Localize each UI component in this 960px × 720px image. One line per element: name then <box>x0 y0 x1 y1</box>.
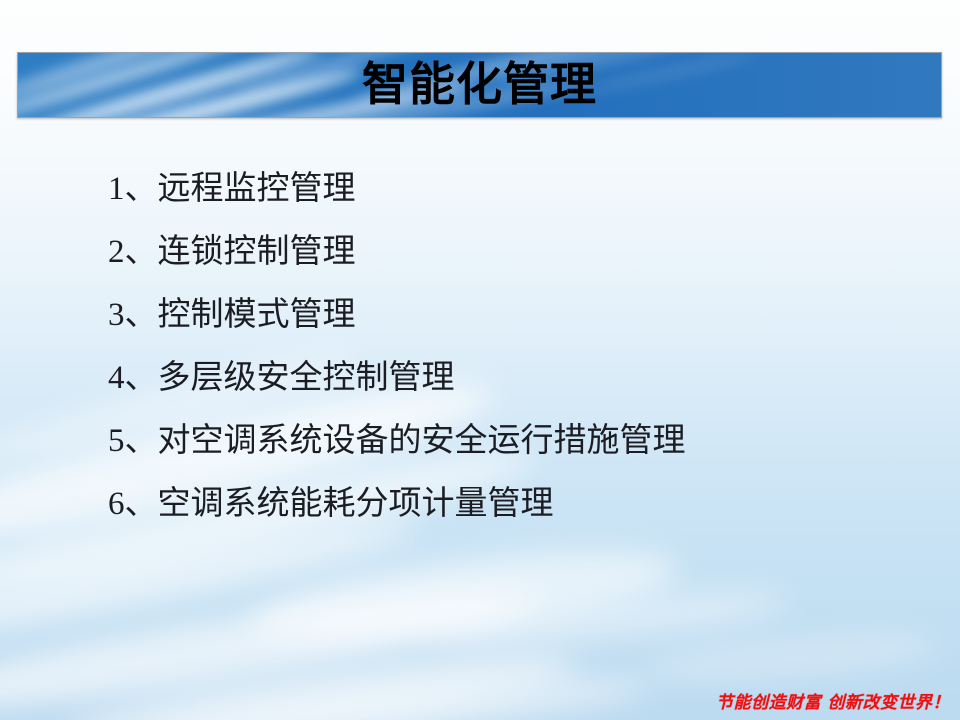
cloud-streak-icon <box>429 581 791 658</box>
footer-slogan: 节能创造财富 创新改变世界！ <box>716 695 950 712</box>
list-item: 4、多层级安全控制管理 <box>108 347 928 410</box>
cloud-streak-icon <box>149 664 651 720</box>
list-item: 3、控制模式管理 <box>108 284 928 347</box>
bullet-list: 1、远程监控管理 2、连锁控制管理 3、控制模式管理 4、多层级安全控制管理 5… <box>108 158 928 536</box>
list-item: 5、对空调系统设备的安全运行措施管理 <box>108 410 928 473</box>
cloud-streak-icon <box>59 636 582 720</box>
list-item: 1、远程监控管理 <box>108 158 928 221</box>
title-banner: 智能化管理 <box>17 52 942 118</box>
slide-title: 智能化管理 <box>18 53 941 117</box>
list-item: 2、连锁控制管理 <box>108 221 928 284</box>
cloud-streak-icon <box>639 627 941 689</box>
cloud-streak-icon <box>0 570 541 720</box>
list-item: 6、空调系统能耗分项计量管理 <box>108 473 928 536</box>
presentation-slide: 智能化管理 1、远程监控管理 2、连锁控制管理 3、控制模式管理 4、多层级安全… <box>0 0 960 720</box>
cloud-streak-icon <box>247 534 682 656</box>
